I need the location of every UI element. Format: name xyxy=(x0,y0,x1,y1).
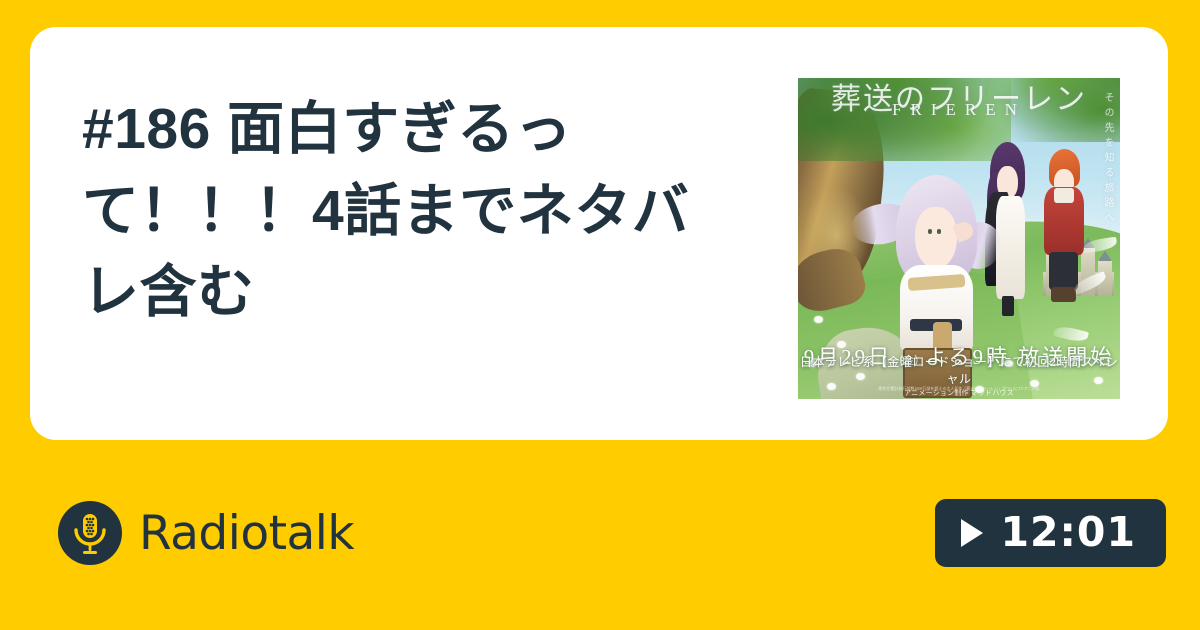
stark-pants xyxy=(1049,252,1077,290)
play-triangle-icon xyxy=(961,519,983,547)
series-title-en: FRIEREN xyxy=(798,100,1120,120)
character-frieren xyxy=(895,168,979,348)
duration-text: 12:01 xyxy=(1000,512,1136,553)
stark-boots xyxy=(1051,287,1076,302)
episode-card[interactable]: #186 面白すぎるって！！！4話までネタバレ含む xyxy=(30,27,1168,440)
flower xyxy=(814,316,823,323)
footer-bar: Radiotalk 12:01 xyxy=(30,478,1168,588)
broadcast-micro-print: 原作が累計発行部数1600万部を超える大人気作「葬送のフリーレン」がついにTVア… xyxy=(798,386,1120,392)
character-stark xyxy=(1043,149,1085,297)
microphone-icon xyxy=(58,501,122,565)
series-tagline: その先を知る旅路へ xyxy=(1100,92,1115,227)
brand-name: Radiotalk xyxy=(139,506,354,561)
frieren-eye-left xyxy=(928,229,932,233)
title-area: #186 面白すぎるって！！！4話までネタバレ含む xyxy=(30,27,798,334)
brand-logo[interactable]: Radiotalk xyxy=(30,501,354,565)
thumbnail-artwork: 葬送のフリーレン FRIEREN その先を知る旅路へ 9月29日（金）よる9時 … xyxy=(798,78,1120,399)
frieren-face xyxy=(915,207,957,268)
frieren-eye-right xyxy=(937,229,941,233)
play-duration-badge[interactable]: 12:01 xyxy=(935,499,1166,567)
page-title: #186 面白すぎるって！！！4話までネタバレ含む xyxy=(82,89,732,334)
broadcast-note: 日本テレビ系【金曜ロードショー】にて初回2時間スペシャル xyxy=(798,353,1120,387)
fern-legs xyxy=(1002,296,1014,316)
episode-thumbnail[interactable]: 葬送のフリーレン FRIEREN その先を知る旅路へ 9月29日（金）よる9時 … xyxy=(798,78,1120,399)
stark-collar xyxy=(1054,188,1074,203)
